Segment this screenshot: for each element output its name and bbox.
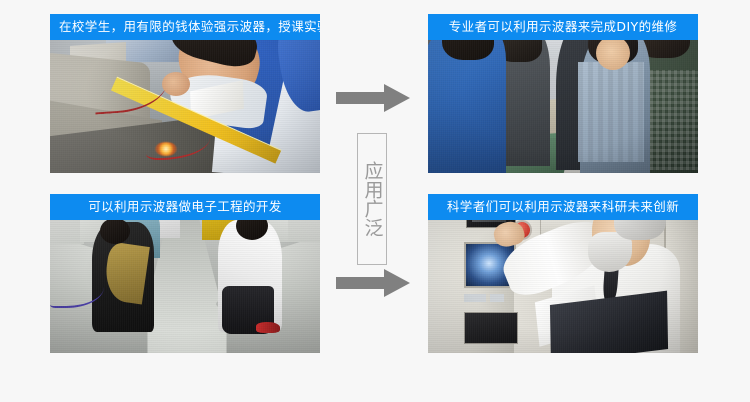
arrow-right-top (336, 83, 410, 113)
panel-top-right: 专业者可以利用示波器来完成DIY的维修 (428, 14, 698, 173)
infographic-canvas: 在校学生，用有限的钱体验强示波器，授课实验！ (0, 0, 750, 402)
panel-top-left: 在校学生，用有限的钱体验强示波器，授课实验！ (50, 14, 320, 173)
panel-caption-bottom-right: 科学者们可以利用示波器来科研未来创新 (428, 194, 698, 220)
panel-caption-bottom-left: 可以利用示波器做电子工程的开发 (50, 194, 320, 220)
panel-bottom-left: 可以利用示波器做电子工程的开发 (50, 194, 320, 353)
panel-caption-top-left: 在校学生，用有限的钱体验强示波器，授课实验！ (50, 14, 320, 40)
arrow-right-bottom (336, 268, 410, 298)
center-vertical-label-text: 应用广泛 (357, 161, 388, 237)
panel-caption-top-right: 专业者可以利用示波器来完成DIY的维修 (428, 14, 698, 40)
center-vertical-label: 应用广泛 (357, 133, 387, 265)
panel-bottom-right: TC-01 科学者们可以利用示波器来科研未来创新 (428, 194, 698, 353)
